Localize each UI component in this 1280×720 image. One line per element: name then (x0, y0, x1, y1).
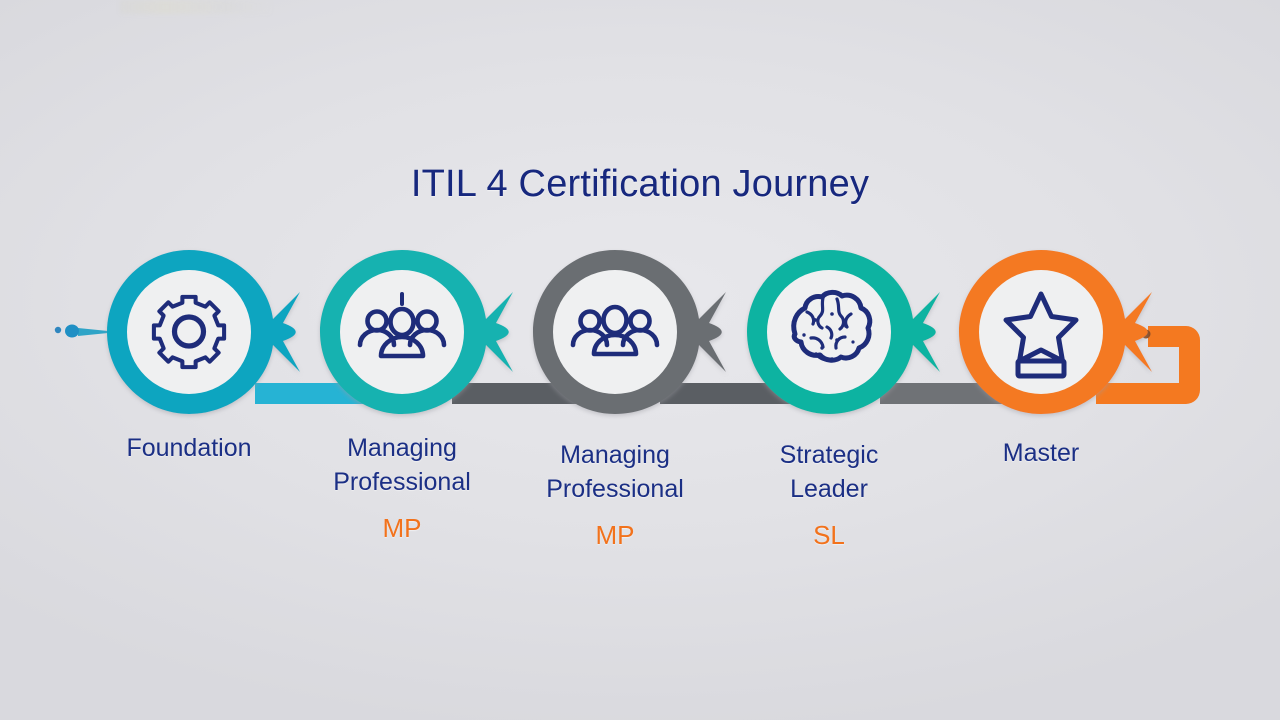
label-sl-line2: Leader (790, 475, 868, 503)
start-dot-large (65, 325, 79, 338)
label-managing-professional-1: Managing Professional MP (287, 432, 517, 544)
diagram-stage: ITIL 4 Certification Journey (0, 0, 1280, 720)
sublabel-mp1: MP (287, 513, 517, 544)
node-foundation-disc (127, 270, 251, 394)
label-mp1-line2: Professional (333, 468, 471, 496)
label-master-line1: Master (1003, 439, 1079, 467)
sublabel-sl: SL (714, 520, 944, 551)
label-sl-line1: Strategic (780, 441, 879, 469)
journey-flow-diagram (0, 0, 1280, 720)
label-foundation-line1: Foundation (126, 434, 251, 462)
label-foundation: Foundation (74, 432, 304, 466)
start-dot-small (55, 327, 61, 333)
node-sl-disc (767, 270, 891, 394)
label-mp2-line2: Professional (546, 475, 684, 503)
label-mp1-line1: Managing (347, 434, 457, 462)
sublabel-mp2: MP (500, 520, 730, 551)
label-strategic-leader: Strategic Leader SL (714, 439, 944, 551)
label-mp2-line1: Managing (560, 441, 670, 469)
label-master: Master (926, 437, 1156, 471)
label-managing-professional-2: Managing Professional MP (500, 439, 730, 551)
node-mp1-disc (340, 270, 464, 394)
